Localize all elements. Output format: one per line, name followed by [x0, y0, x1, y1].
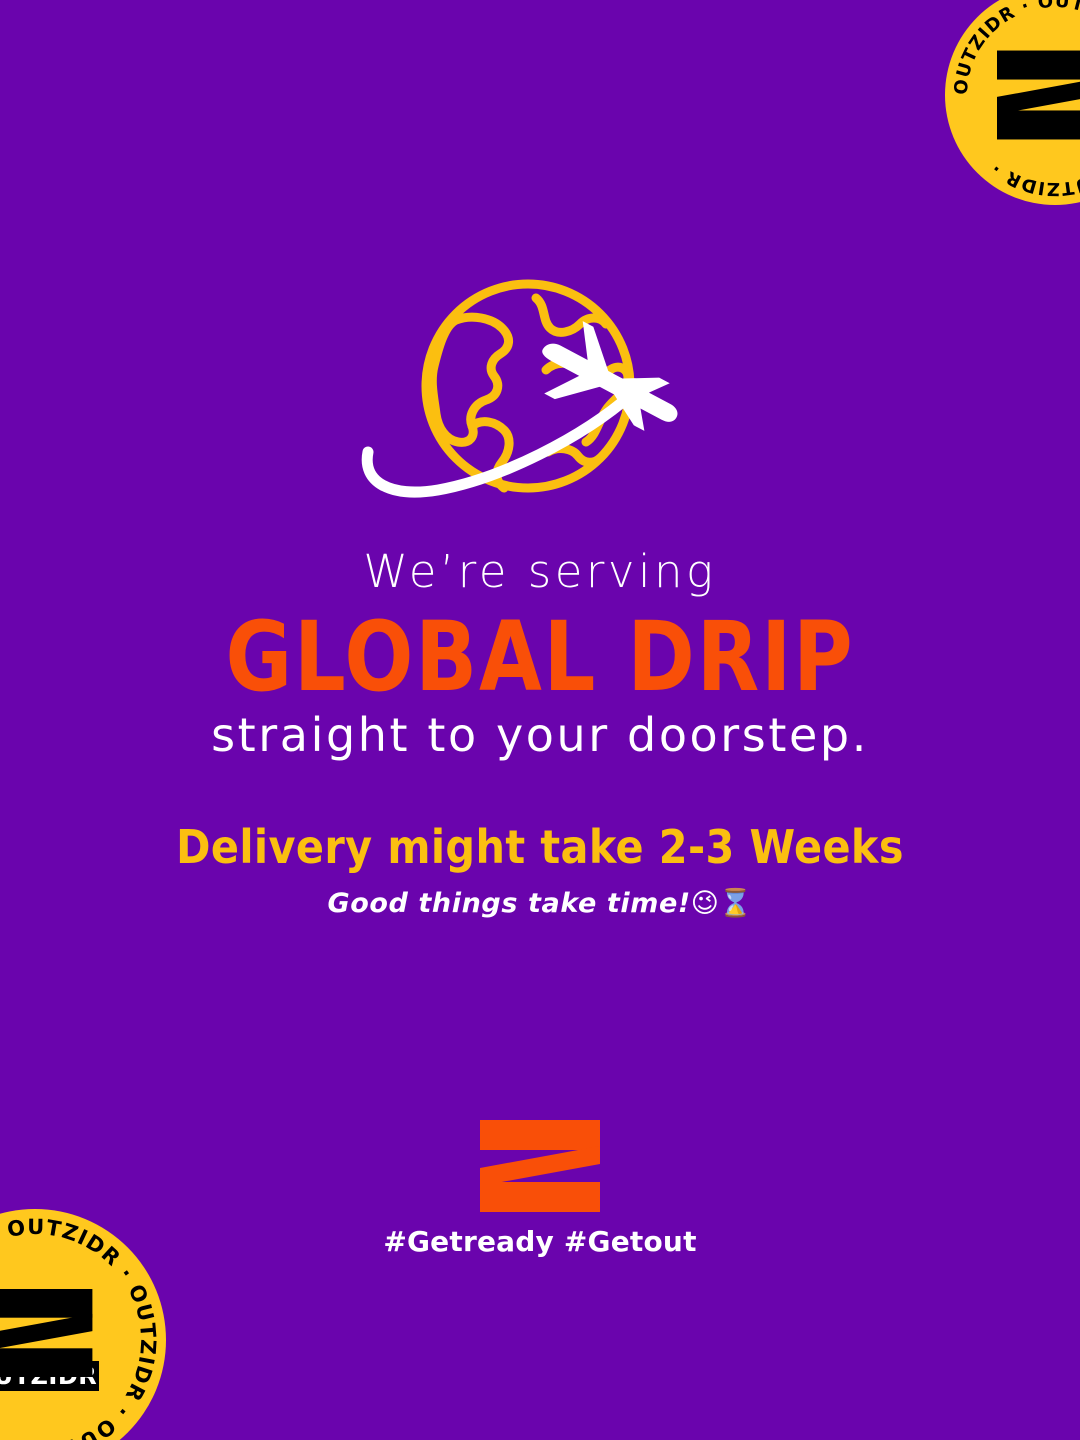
delivery-estimate-text: Delivery might take 2-3 Weeks — [0, 822, 1080, 874]
reassurance-line: Good things take time!😉⌛ — [0, 888, 1080, 920]
footer-tagline: #Getready #Getout — [383, 1228, 696, 1256]
headline-copy-block: We’re serving GLOBAL DRIP straight to yo… — [0, 548, 1080, 760]
page-title: GLOBAL DRIP — [32, 609, 1047, 705]
poster-canvas: We’re serving GLOBAL DRIP straight to yo… — [0, 0, 1080, 1440]
reassurance-text: Good things take time! — [327, 888, 690, 919]
subline-text: straight to your doorstep. — [0, 711, 1080, 759]
eyebrow-text: We’re serving — [0, 548, 1080, 595]
globe-airplane-icon — [360, 276, 720, 508]
wink-hourglass-emoji: 😉⌛ — [691, 888, 753, 919]
badge-core-top-right — [997, 49, 1080, 141]
badge-bottom-left: OUTZIDR · OUTZIDR · OUTZIDR · OUTZIDR · … — [0, 1209, 166, 1440]
delivery-notice-block: Delivery might take 2-3 Weeks Good thing… — [0, 822, 1080, 920]
badge-z-mark-bottom-left — [0, 1289, 99, 1377]
badge-top-right: OUTZIDR · OUTZIDR · OUTZIDR · OUTZIDR · — [945, 0, 1080, 205]
badge-core-bottom-left: OUTZIDR — [0, 1289, 99, 1391]
badge-z-mark-top-right — [997, 49, 1080, 141]
outzidr-z-logo — [480, 1120, 600, 1212]
